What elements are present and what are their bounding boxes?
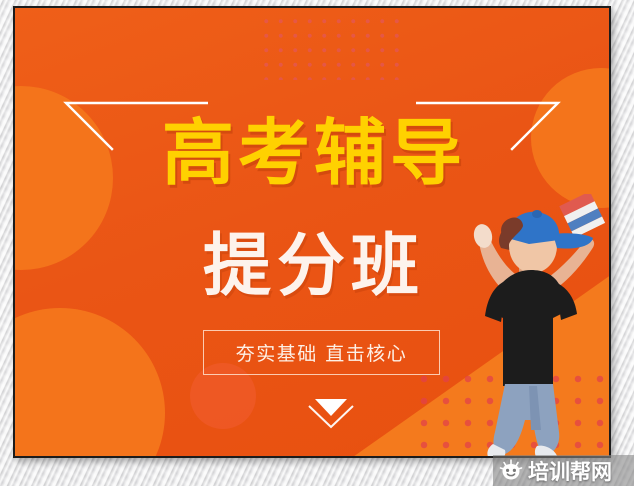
circle-decoration-bottom-left (15, 308, 165, 456)
poster-title-sub: 提分班 (15, 230, 609, 304)
poster-canvas: 高考辅导 提分班 夯实基础 直击核心 (15, 8, 609, 456)
sun-face-logo-icon (499, 459, 523, 483)
tagline-text: 夯实基础 直击核心 (236, 339, 408, 366)
dot-pattern-top (259, 14, 399, 80)
arrow-down-icon (303, 394, 359, 430)
tagline-box: 夯实基础 直击核心 (203, 330, 440, 375)
watermark-text: 培训帮网 (528, 456, 612, 486)
watermark: 培训帮网 (493, 455, 634, 486)
poster-frame: 高考辅导 提分班 夯实基础 直击核心 (13, 6, 611, 458)
poster-title-main: 高考辅导 (15, 114, 609, 192)
